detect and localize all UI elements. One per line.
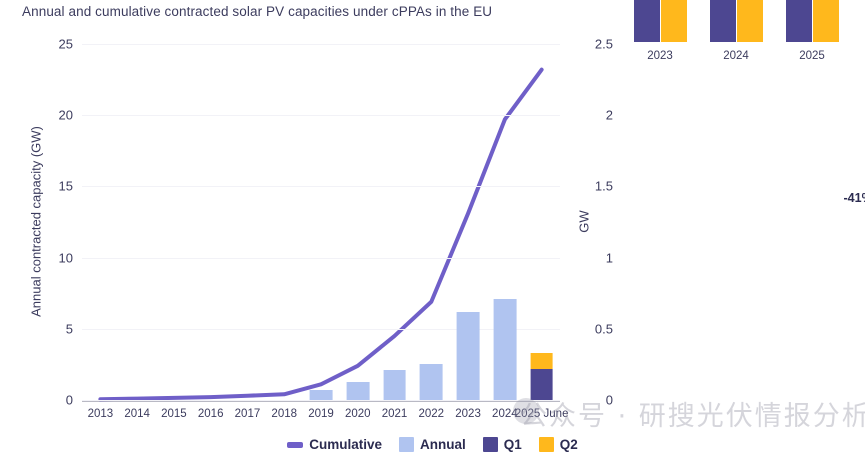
left-gridline	[82, 44, 560, 45]
left-gridline	[82, 400, 560, 401]
right-x-tick: 2024	[723, 44, 749, 62]
left-bar	[493, 299, 516, 400]
legend-label: Cumulative	[309, 437, 382, 452]
left-y-tick: 5	[66, 321, 82, 336]
right-bar-q1	[786, 0, 812, 42]
right-y-tick: 2	[606, 108, 622, 123]
bar-segment-annual	[310, 390, 333, 400]
right-chart: GW 00.511.522.5202320242025-41%	[622, 44, 850, 402]
bar-segment-annual	[457, 312, 480, 400]
left-gridline	[82, 258, 560, 259]
legend-swatch-q1-icon	[483, 437, 498, 452]
right-bar-q2	[813, 0, 839, 42]
right-bar-q1	[634, 0, 660, 42]
left-bar	[420, 364, 443, 400]
left-y-tick: 10	[59, 250, 82, 265]
left-x-tick: 2019	[308, 402, 334, 420]
left-bar	[310, 390, 333, 400]
left-x-tick: 2023	[455, 402, 481, 420]
bar-segment-annual	[383, 370, 406, 400]
right-bar-q1	[710, 0, 736, 42]
left-chart: Annual contracted capacity (GW) 05101520…	[82, 44, 560, 402]
left-y-tick: 0	[66, 393, 82, 408]
left-y-tick: 15	[59, 179, 82, 194]
page-title: Annual and cumulative contracted solar P…	[22, 4, 492, 19]
right-y-axis-label: GW	[577, 43, 592, 401]
left-bar	[457, 312, 480, 400]
watermark-badge-icon	[513, 398, 539, 424]
left-x-tick: 2013	[88, 402, 114, 420]
left-x-tick: 2022	[419, 402, 445, 420]
legend-label: Q2	[560, 437, 578, 452]
legend-label: Annual	[420, 437, 466, 452]
legend-label: Q1	[504, 437, 522, 452]
left-x-tick: 2015	[161, 402, 187, 420]
legend-item-annual[interactable]: Annual	[399, 437, 466, 452]
left-plot-area: 0510152025201320142015201620172018201920…	[82, 44, 560, 402]
right-y-tick: 0	[606, 393, 622, 408]
left-bar	[383, 370, 406, 400]
left-y-tick: 20	[59, 108, 82, 123]
bar-segment-annual	[493, 299, 516, 400]
legend-swatch-cumulative-icon	[287, 442, 303, 448]
left-x-tick: 2021	[382, 402, 408, 420]
bar-segment-q2	[530, 353, 553, 369]
left-x-tick: 2014	[124, 402, 150, 420]
right-x-tick: 2023	[647, 44, 673, 62]
left-y-tick: 25	[59, 37, 82, 52]
left-x-tick: 2016	[198, 402, 224, 420]
right-y-tick: 1.5	[595, 179, 622, 194]
legend-item-q2[interactable]: Q2	[539, 437, 578, 452]
left-x-tick: 2017	[235, 402, 261, 420]
legend-item-cumulative[interactable]: Cumulative	[287, 437, 382, 452]
chart-legend: CumulativeAnnualQ1Q2	[0, 437, 865, 452]
left-gridline	[82, 115, 560, 116]
legend-swatch-q2-icon	[539, 437, 554, 452]
legend-swatch-annual-icon	[399, 437, 414, 452]
cumulative-line	[82, 44, 560, 402]
left-x-tick: 2020	[345, 402, 371, 420]
right-x-tick: 2025	[799, 44, 825, 62]
legend-item-q1[interactable]: Q1	[483, 437, 522, 452]
left-gridline	[82, 186, 560, 187]
right-y-tick: 1	[606, 250, 622, 265]
left-bar	[530, 353, 553, 400]
left-x-tick: 2018	[271, 402, 297, 420]
right-bar-q2	[661, 0, 687, 42]
chart-page: Annual and cumulative contracted solar P…	[0, 0, 865, 455]
bar-segment-q1	[530, 369, 553, 400]
left-bar	[346, 382, 369, 401]
left-y-axis-label: Annual contracted capacity (GW)	[29, 43, 44, 401]
right-y-tick: 2.5	[595, 37, 622, 52]
bar-segment-annual	[346, 382, 369, 401]
bar-segment-annual	[420, 364, 443, 400]
right-bar-q2	[737, 0, 763, 42]
percent-change-annotation: -41%	[844, 191, 865, 205]
right-y-tick: 0.5	[595, 321, 622, 336]
left-gridline	[82, 329, 560, 330]
